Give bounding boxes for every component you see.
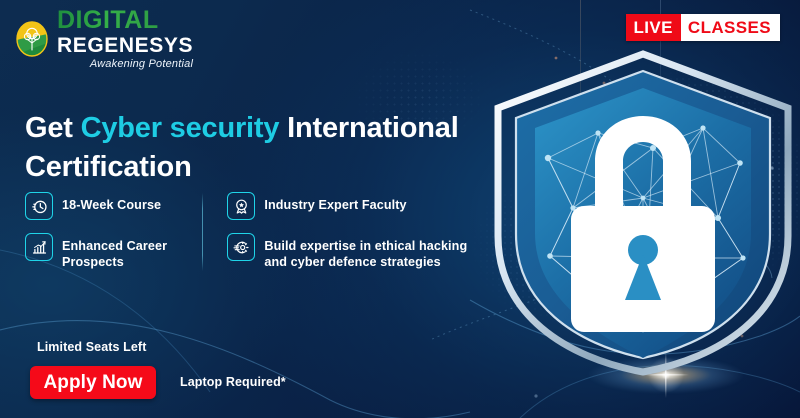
brand-tagline: Awakening Potential <box>57 59 193 70</box>
gear-icon <box>227 233 255 261</box>
feature-label: Enhanced Career Prospects <box>62 234 193 270</box>
feature-label: 18-Week Course <box>62 193 161 213</box>
feature-label: Industry Expert Faculty <box>264 193 406 213</box>
clock-icon <box>25 192 53 220</box>
promo-banner: DIGITAL REGENESYS Awakening Potential LI… <box>0 0 800 418</box>
feature-item-expert-faculty: Industry Expert Faculty <box>227 193 475 220</box>
brand-name-digital: DIGITAL <box>57 8 193 33</box>
feature-list: 18-Week Course Enhanced Career Prospects <box>25 193 475 271</box>
brand-name-regenesys: REGENESYS <box>57 35 193 56</box>
headline-part-1: Get <box>25 112 81 144</box>
brand-logo-text: DIGITAL REGENESYS Awakening Potential <box>57 8 193 70</box>
shield-padlock-artwork <box>478 28 800 378</box>
feature-column-divider <box>202 193 203 271</box>
brand-logo[interactable]: DIGITAL REGENESYS Awakening Potential <box>14 8 193 70</box>
headline-accent: Cyber security <box>81 112 280 144</box>
feature-item-ethical-hacking: Build expertise in ethical hacking and c… <box>227 234 475 270</box>
feature-column-right: Industry Expert Faculty Build expertise … <box>227 193 475 271</box>
growth-chart-icon <box>25 233 53 261</box>
feature-item-career-prospects: Enhanced Career Prospects <box>25 234 193 270</box>
headline: Get Cyber security International Certifi… <box>25 109 495 186</box>
limited-seats-text: Limited Seats Left <box>37 340 146 354</box>
award-medal-icon <box>227 192 255 220</box>
feature-item-18-week-course: 18-Week Course <box>25 193 193 220</box>
badge-classes-label: CLASSES <box>681 14 780 41</box>
feature-column-left: 18-Week Course Enhanced Career Prospects <box>25 193 193 271</box>
apply-now-button[interactable]: Apply Now <box>30 366 156 399</box>
badge-live-label: LIVE <box>626 14 681 41</box>
tree-circle-emblem-icon <box>14 19 50 59</box>
laptop-required-note: Laptop Required* <box>180 375 286 389</box>
feature-label: Build expertise in ethical hacking and c… <box>264 234 475 270</box>
live-classes-badge: LIVE CLASSES <box>626 14 780 41</box>
